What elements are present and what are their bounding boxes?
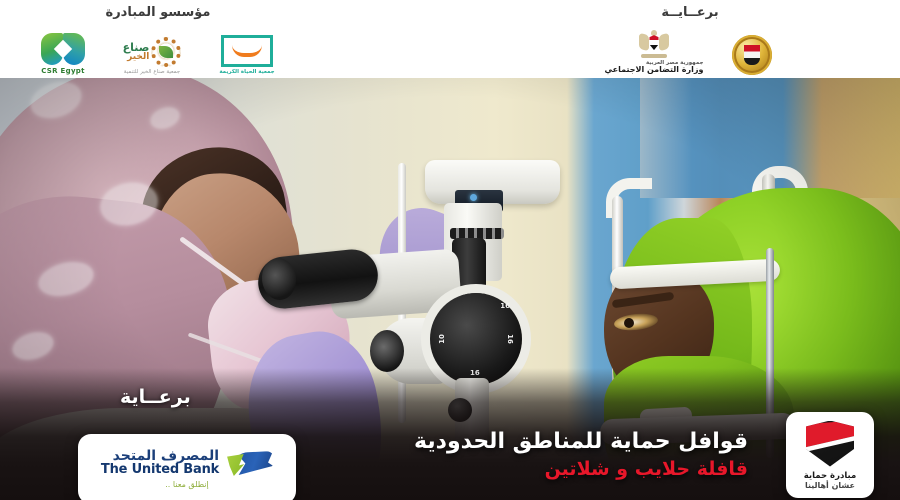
founders-label: مؤسسو المبادرة	[106, 5, 211, 20]
dial-label: 10	[438, 334, 446, 344]
poster-header: مؤسسو المبادرة CSR Egypt صناع الخير	[0, 0, 900, 78]
smile-frame-icon	[221, 35, 273, 67]
sponsor-banner: برعــاية المصرف المتحد The United Bank إ…	[0, 368, 900, 500]
patron-logo-row: جمهورية مصر العربية وزارة التضامن الاجتم…	[599, 23, 781, 75]
initiative-name-line2: عشان أهالينا	[805, 481, 855, 490]
hemaya-initiative-logo-card[interactable]: مبادرة حماية عشان أهالينا	[786, 412, 874, 498]
ministry-wordmark: جمهورية مصر العربية وزارة التضامن الاجتم…	[605, 60, 704, 75]
founders-section: مؤسسو المبادرة CSR Egypt صناع الخير	[18, 0, 298, 78]
campaign-title: قوافل حماية للمناطق الحدودية	[414, 428, 748, 456]
bank-name-english: The United Bank	[101, 463, 219, 477]
ministry-line2: وزارة التضامن الاجتماعي	[605, 65, 704, 74]
ministry-logo: جمهورية مصر العربية وزارة التضامن الاجتم…	[599, 30, 709, 75]
gear-leaf-icon	[151, 37, 181, 67]
bassita-subtitle: جمعية الحياة الكريمة	[219, 69, 274, 75]
sonaa-el-kheir-subtitle: جمعية صناع الخير للتنمية	[124, 69, 180, 75]
sonaa-el-kheir-logo: صناع الخير جمعية صناع الخير للتنمية	[106, 37, 198, 75]
patient-pupil	[624, 318, 634, 328]
csr-egypt-mark-icon	[41, 33, 85, 65]
sonaa-line2: الخير	[123, 53, 150, 62]
dial-label: 16	[500, 302, 510, 310]
slit-lamp-indicator	[470, 194, 477, 201]
campaign-text-block: قوافل حماية للمناطق الحدودية قافلة حلايب…	[414, 428, 748, 482]
patron-label: برعــايــة	[661, 5, 718, 20]
sonaa-el-kheir-wordmark: صناع الخير	[123, 43, 150, 62]
campaign-subtitle: قافلة حلايب و شلاتين	[414, 457, 748, 482]
dial-label: 16	[506, 334, 514, 344]
microscope-objective-lens	[370, 330, 404, 372]
bank-name-arabic: المصرف المتحد	[113, 449, 219, 464]
bank-tagline: إنطلق معنا ..	[165, 480, 209, 489]
sponsor-label: برعــاية	[120, 386, 191, 408]
eagle-of-saladin-icon	[639, 30, 669, 60]
egypt-state-seal-logo	[723, 35, 781, 75]
csr-egypt-logo: CSR Egypt	[34, 33, 92, 75]
united-bank-mark-icon	[227, 449, 273, 477]
founders-logo-row: CSR Egypt صناع الخير جمعية صناع الخير لل…	[34, 23, 282, 75]
patron-section: برعــايــة جمهورية مصر العربية وزارة الت…	[560, 0, 820, 78]
bassita-logo: جمعية الحياة الكريمة	[212, 35, 282, 75]
shield-icon	[806, 421, 854, 467]
clinic-photo: 16 10 16 16 Activa برعــاية المصرف المتح…	[0, 78, 900, 500]
initiative-name-line1: مبادرة حماية	[804, 471, 857, 481]
gold-seal-icon	[732, 35, 772, 75]
campaign-poster: مؤسسو المبادرة CSR Egypt صناع الخير	[0, 0, 900, 500]
united-bank-logo-card[interactable]: المصرف المتحد The United Bank إنطلق معنا…	[78, 434, 296, 500]
csr-egypt-wordmark: CSR Egypt	[41, 67, 85, 75]
